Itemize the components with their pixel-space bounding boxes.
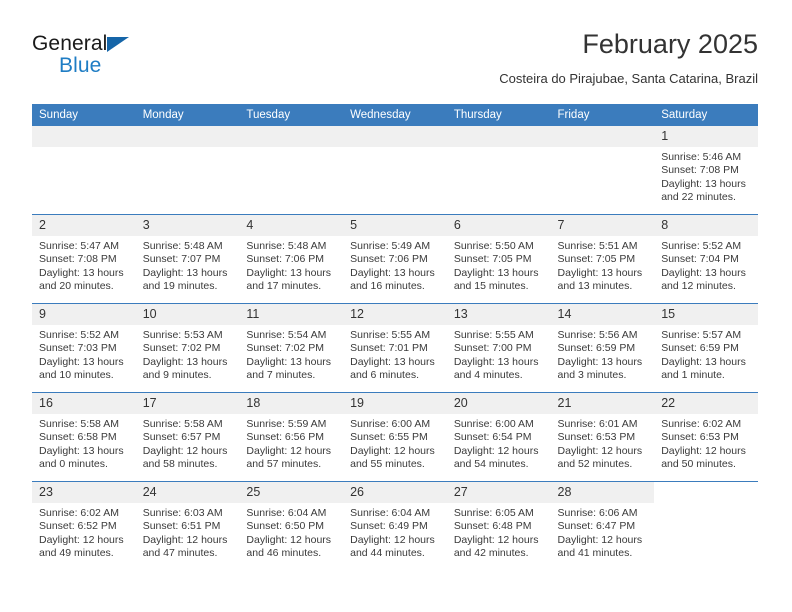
day-details: Sunrise: 5:58 AMSunset: 6:58 PMDaylight:… — [32, 414, 136, 472]
detail-daylight2: and 41 minutes. — [558, 547, 649, 560]
day-details: Sunrise: 6:00 AMSunset: 6:54 PMDaylight:… — [447, 414, 551, 472]
detail-sunset: Sunset: 6:59 PM — [661, 342, 752, 355]
logo-text-general: General — [32, 32, 107, 55]
detail-sunset: Sunset: 7:08 PM — [39, 253, 130, 266]
calendar-day-cell[interactable]: 26Sunrise: 6:04 AMSunset: 6:49 PMDayligh… — [343, 482, 447, 571]
detail-daylight1: Daylight: 13 hours — [39, 267, 130, 280]
weekday-header-thursday: Thursday — [447, 104, 551, 126]
day-details: Sunrise: 5:53 AMSunset: 7:02 PMDaylight:… — [136, 325, 240, 383]
detail-daylight2: and 7 minutes. — [246, 369, 337, 382]
weekday-header-wednesday: Wednesday — [343, 104, 447, 126]
day-details: Sunrise: 5:46 AMSunset: 7:08 PMDaylight:… — [654, 147, 758, 205]
detail-daylight2: and 13 minutes. — [558, 280, 649, 293]
detail-sunset: Sunset: 6:59 PM — [558, 342, 649, 355]
detail-daylight2: and 46 minutes. — [246, 547, 337, 560]
calendar-day-cell[interactable]: 20Sunrise: 6:00 AMSunset: 6:54 PMDayligh… — [447, 393, 551, 482]
day-details: Sunrise: 5:48 AMSunset: 7:06 PMDaylight:… — [239, 236, 343, 294]
detail-daylight2: and 20 minutes. — [39, 280, 130, 293]
day-details: Sunrise: 5:52 AMSunset: 7:03 PMDaylight:… — [32, 325, 136, 383]
day-number: 25 — [239, 482, 343, 503]
detail-daylight2: and 54 minutes. — [454, 458, 545, 471]
day-number: 14 — [551, 304, 655, 325]
logo-triangle-icon — [107, 37, 129, 52]
detail-daylight1: Daylight: 13 hours — [39, 445, 130, 458]
calendar-day-cell[interactable]: 22Sunrise: 6:02 AMSunset: 6:53 PMDayligh… — [654, 393, 758, 482]
calendar-day-cell[interactable]: 8Sunrise: 5:52 AMSunset: 7:04 PMDaylight… — [654, 215, 758, 304]
page-header: General Blue February 2025 Costeira do P… — [32, 28, 758, 98]
day-number: 20 — [447, 393, 551, 414]
detail-sunset: Sunset: 6:53 PM — [661, 431, 752, 444]
detail-daylight2: and 12 minutes. — [661, 280, 752, 293]
day-number: 21 — [551, 393, 655, 414]
day-details: Sunrise: 5:56 AMSunset: 6:59 PMDaylight:… — [551, 325, 655, 383]
detail-daylight2: and 22 minutes. — [661, 191, 752, 204]
detail-sunrise: Sunrise: 5:55 AM — [454, 329, 545, 342]
detail-sunrise: Sunrise: 6:04 AM — [246, 507, 337, 520]
calendar-week-row: 9Sunrise: 5:52 AMSunset: 7:03 PMDaylight… — [32, 304, 758, 393]
detail-daylight2: and 16 minutes. — [350, 280, 441, 293]
day-number: 11 — [239, 304, 343, 325]
day-number — [447, 126, 551, 147]
detail-sunrise: Sunrise: 6:01 AM — [558, 418, 649, 431]
day-number: 12 — [343, 304, 447, 325]
calendar-empty-cell — [239, 126, 343, 215]
detail-daylight1: Daylight: 12 hours — [454, 534, 545, 547]
calendar-empty-cell — [551, 126, 655, 215]
calendar-day-cell[interactable]: 9Sunrise: 5:52 AMSunset: 7:03 PMDaylight… — [32, 304, 136, 393]
detail-sunrise: Sunrise: 5:53 AM — [143, 329, 234, 342]
day-details: Sunrise: 5:54 AMSunset: 7:02 PMDaylight:… — [239, 325, 343, 383]
day-number: 7 — [551, 215, 655, 236]
detail-sunset: Sunset: 7:02 PM — [143, 342, 234, 355]
detail-daylight1: Daylight: 12 hours — [454, 445, 545, 458]
calendar-day-cell[interactable]: 18Sunrise: 5:59 AMSunset: 6:56 PMDayligh… — [239, 393, 343, 482]
day-number: 10 — [136, 304, 240, 325]
day-details: Sunrise: 6:06 AMSunset: 6:47 PMDaylight:… — [551, 503, 655, 561]
calendar-day-cell[interactable]: 17Sunrise: 5:58 AMSunset: 6:57 PMDayligh… — [136, 393, 240, 482]
day-number: 2 — [32, 215, 136, 236]
general-blue-logo[interactable]: General Blue — [32, 32, 242, 88]
detail-daylight2: and 52 minutes. — [558, 458, 649, 471]
calendar-day-cell[interactable]: 1Sunrise: 5:46 AMSunset: 7:08 PMDaylight… — [654, 126, 758, 215]
detail-sunrise: Sunrise: 6:02 AM — [661, 418, 752, 431]
detail-daylight2: and 15 minutes. — [454, 280, 545, 293]
detail-daylight2: and 17 minutes. — [246, 280, 337, 293]
day-details: Sunrise: 6:04 AMSunset: 6:50 PMDaylight:… — [239, 503, 343, 561]
detail-daylight2: and 49 minutes. — [39, 547, 130, 560]
calendar-day-cell[interactable]: 4Sunrise: 5:48 AMSunset: 7:06 PMDaylight… — [239, 215, 343, 304]
detail-sunset: Sunset: 7:03 PM — [39, 342, 130, 355]
day-number: 6 — [447, 215, 551, 236]
detail-daylight2: and 57 minutes. — [246, 458, 337, 471]
detail-sunrise: Sunrise: 5:47 AM — [39, 240, 130, 253]
detail-sunrise: Sunrise: 6:00 AM — [350, 418, 441, 431]
calendar-empty-cell — [654, 482, 758, 571]
detail-daylight1: Daylight: 13 hours — [246, 267, 337, 280]
detail-sunrise: Sunrise: 6:02 AM — [39, 507, 130, 520]
weekday-header-friday: Friday — [551, 104, 655, 126]
day-number: 23 — [32, 482, 136, 503]
day-number: 24 — [136, 482, 240, 503]
calendar-empty-cell — [136, 126, 240, 215]
detail-sunset: Sunset: 7:05 PM — [558, 253, 649, 266]
detail-sunrise: Sunrise: 5:52 AM — [661, 240, 752, 253]
detail-sunset: Sunset: 6:48 PM — [454, 520, 545, 533]
calendar-week-row: 2Sunrise: 5:47 AMSunset: 7:08 PMDaylight… — [32, 215, 758, 304]
calendar-day-cell[interactable]: 14Sunrise: 5:56 AMSunset: 6:59 PMDayligh… — [551, 304, 655, 393]
detail-sunrise: Sunrise: 5:56 AM — [558, 329, 649, 342]
detail-daylight1: Daylight: 12 hours — [350, 445, 441, 458]
detail-sunset: Sunset: 7:01 PM — [350, 342, 441, 355]
day-number: 18 — [239, 393, 343, 414]
detail-sunrise: Sunrise: 5:54 AM — [246, 329, 337, 342]
detail-daylight1: Daylight: 13 hours — [661, 178, 752, 191]
weekday-header-tuesday: Tuesday — [239, 104, 343, 126]
detail-daylight2: and 47 minutes. — [143, 547, 234, 560]
page-title: February 2025 — [499, 28, 758, 60]
logo-top-row: General — [32, 32, 242, 55]
day-number: 9 — [32, 304, 136, 325]
calendar-day-cell[interactable]: 12Sunrise: 5:55 AMSunset: 7:01 PMDayligh… — [343, 304, 447, 393]
detail-sunset: Sunset: 6:58 PM — [39, 431, 130, 444]
detail-sunrise: Sunrise: 5:46 AM — [661, 151, 752, 164]
detail-daylight2: and 55 minutes. — [350, 458, 441, 471]
detail-daylight1: Daylight: 12 hours — [350, 534, 441, 547]
calendar-header-row: Sunday Monday Tuesday Wednesday Thursday… — [32, 104, 758, 126]
detail-daylight2: and 44 minutes. — [350, 547, 441, 560]
detail-daylight1: Daylight: 13 hours — [143, 356, 234, 369]
calendar-day-cell[interactable]: 23Sunrise: 6:02 AMSunset: 6:52 PMDayligh… — [32, 482, 136, 571]
detail-sunrise: Sunrise: 5:48 AM — [246, 240, 337, 253]
calendar-day-cell[interactable]: 15Sunrise: 5:57 AMSunset: 6:59 PMDayligh… — [654, 304, 758, 393]
detail-sunrise: Sunrise: 6:04 AM — [350, 507, 441, 520]
detail-daylight2: and 6 minutes. — [350, 369, 441, 382]
day-details: Sunrise: 5:59 AMSunset: 6:56 PMDaylight:… — [239, 414, 343, 472]
detail-daylight1: Daylight: 13 hours — [661, 267, 752, 280]
calendar-day-cell[interactable]: 3Sunrise: 5:48 AMSunset: 7:07 PMDaylight… — [136, 215, 240, 304]
calendar-empty-cell — [447, 126, 551, 215]
calendar-day-cell[interactable]: 7Sunrise: 5:51 AMSunset: 7:05 PMDaylight… — [551, 215, 655, 304]
detail-daylight1: Daylight: 13 hours — [558, 267, 649, 280]
detail-sunset: Sunset: 6:50 PM — [246, 520, 337, 533]
day-number: 4 — [239, 215, 343, 236]
day-number: 16 — [32, 393, 136, 414]
detail-sunset: Sunset: 6:52 PM — [39, 520, 130, 533]
detail-daylight1: Daylight: 12 hours — [246, 445, 337, 458]
detail-sunrise: Sunrise: 5:49 AM — [350, 240, 441, 253]
detail-daylight1: Daylight: 12 hours — [558, 534, 649, 547]
title-block: February 2025 Costeira do Pirajubae, San… — [499, 28, 758, 88]
detail-sunrise: Sunrise: 5:48 AM — [143, 240, 234, 253]
day-details: Sunrise: 5:49 AMSunset: 7:06 PMDaylight:… — [343, 236, 447, 294]
calendar-day-cell[interactable]: 2Sunrise: 5:47 AMSunset: 7:08 PMDaylight… — [32, 215, 136, 304]
day-number — [136, 126, 240, 147]
detail-sunset: Sunset: 6:51 PM — [143, 520, 234, 533]
day-number: 22 — [654, 393, 758, 414]
day-details: Sunrise: 5:47 AMSunset: 7:08 PMDaylight:… — [32, 236, 136, 294]
day-number: 28 — [551, 482, 655, 503]
detail-sunrise: Sunrise: 5:58 AM — [39, 418, 130, 431]
detail-sunrise: Sunrise: 6:03 AM — [143, 507, 234, 520]
detail-sunset: Sunset: 7:06 PM — [246, 253, 337, 266]
day-number — [343, 126, 447, 147]
detail-daylight1: Daylight: 13 hours — [143, 267, 234, 280]
detail-sunset: Sunset: 6:49 PM — [350, 520, 441, 533]
calendar-week-row: 1Sunrise: 5:46 AMSunset: 7:08 PMDaylight… — [32, 126, 758, 215]
detail-sunrise: Sunrise: 5:59 AM — [246, 418, 337, 431]
calendar-day-cell[interactable]: 6Sunrise: 5:50 AMSunset: 7:05 PMDaylight… — [447, 215, 551, 304]
detail-sunrise: Sunrise: 5:55 AM — [350, 329, 441, 342]
day-details: Sunrise: 5:58 AMSunset: 6:57 PMDaylight:… — [136, 414, 240, 472]
logo-text-blue: Blue — [59, 55, 242, 77]
detail-daylight2: and 58 minutes. — [143, 458, 234, 471]
day-details: Sunrise: 6:00 AMSunset: 6:55 PMDaylight:… — [343, 414, 447, 472]
day-number: 27 — [447, 482, 551, 503]
day-number — [239, 126, 343, 147]
calendar-day-cell[interactable]: 16Sunrise: 5:58 AMSunset: 6:58 PMDayligh… — [32, 393, 136, 482]
detail-daylight1: Daylight: 13 hours — [350, 267, 441, 280]
detail-sunset: Sunset: 6:53 PM — [558, 431, 649, 444]
day-details: Sunrise: 6:02 AMSunset: 6:53 PMDaylight:… — [654, 414, 758, 472]
detail-sunset: Sunset: 6:54 PM — [454, 431, 545, 444]
detail-sunset: Sunset: 6:55 PM — [350, 431, 441, 444]
detail-sunset: Sunset: 6:47 PM — [558, 520, 649, 533]
detail-daylight2: and 3 minutes. — [558, 369, 649, 382]
detail-daylight2: and 19 minutes. — [143, 280, 234, 293]
detail-daylight2: and 50 minutes. — [661, 458, 752, 471]
weekday-header-monday: Monday — [136, 104, 240, 126]
detail-sunrise: Sunrise: 6:00 AM — [454, 418, 545, 431]
weekday-header-row: Sunday Monday Tuesday Wednesday Thursday… — [32, 104, 758, 126]
day-number: 15 — [654, 304, 758, 325]
detail-daylight1: Daylight: 12 hours — [143, 534, 234, 547]
calendar-empty-cell — [343, 126, 447, 215]
calendar-day-cell[interactable]: 5Sunrise: 5:49 AMSunset: 7:06 PMDaylight… — [343, 215, 447, 304]
calendar-day-cell[interactable]: 11Sunrise: 5:54 AMSunset: 7:02 PMDayligh… — [239, 304, 343, 393]
detail-sunset: Sunset: 7:07 PM — [143, 253, 234, 266]
detail-daylight2: and 42 minutes. — [454, 547, 545, 560]
day-details: Sunrise: 6:01 AMSunset: 6:53 PMDaylight:… — [551, 414, 655, 472]
sunrise-sunset-calendar: Sunday Monday Tuesday Wednesday Thursday… — [32, 104, 758, 570]
detail-daylight1: Daylight: 13 hours — [661, 356, 752, 369]
weekday-header-saturday: Saturday — [654, 104, 758, 126]
detail-daylight2: and 1 minute. — [661, 369, 752, 382]
detail-sunrise: Sunrise: 5:57 AM — [661, 329, 752, 342]
day-number: 3 — [136, 215, 240, 236]
detail-daylight2: and 9 minutes. — [143, 369, 234, 382]
day-number: 26 — [343, 482, 447, 503]
detail-sunset: Sunset: 7:00 PM — [454, 342, 545, 355]
day-details: Sunrise: 5:55 AMSunset: 7:00 PMDaylight:… — [447, 325, 551, 383]
day-details: Sunrise: 5:55 AMSunset: 7:01 PMDaylight:… — [343, 325, 447, 383]
day-details: Sunrise: 5:52 AMSunset: 7:04 PMDaylight:… — [654, 236, 758, 294]
detail-sunrise: Sunrise: 5:50 AM — [454, 240, 545, 253]
day-details: Sunrise: 5:50 AMSunset: 7:05 PMDaylight:… — [447, 236, 551, 294]
detail-sunset: Sunset: 7:05 PM — [454, 253, 545, 266]
calendar-body: 1Sunrise: 5:46 AMSunset: 7:08 PMDaylight… — [32, 126, 758, 570]
day-number: 17 — [136, 393, 240, 414]
detail-daylight1: Daylight: 12 hours — [143, 445, 234, 458]
detail-sunset: Sunset: 7:06 PM — [350, 253, 441, 266]
day-details: Sunrise: 6:03 AMSunset: 6:51 PMDaylight:… — [136, 503, 240, 561]
detail-daylight1: Daylight: 12 hours — [246, 534, 337, 547]
page-subtitle: Costeira do Pirajubae, Santa Catarina, B… — [499, 70, 758, 88]
detail-daylight1: Daylight: 13 hours — [454, 267, 545, 280]
detail-daylight2: and 4 minutes. — [454, 369, 545, 382]
day-details: Sunrise: 6:02 AMSunset: 6:52 PMDaylight:… — [32, 503, 136, 561]
calendar-week-row: 23Sunrise: 6:02 AMSunset: 6:52 PMDayligh… — [32, 482, 758, 571]
detail-daylight1: Daylight: 13 hours — [246, 356, 337, 369]
day-number — [32, 126, 136, 147]
day-details: Sunrise: 6:05 AMSunset: 6:48 PMDaylight:… — [447, 503, 551, 561]
detail-daylight1: Daylight: 12 hours — [661, 445, 752, 458]
calendar-empty-cell — [32, 126, 136, 215]
detail-sunset: Sunset: 6:57 PM — [143, 431, 234, 444]
calendar-day-cell[interactable]: 13Sunrise: 5:55 AMSunset: 7:00 PMDayligh… — [447, 304, 551, 393]
detail-daylight2: and 10 minutes. — [39, 369, 130, 382]
calendar-page: General Blue February 2025 Costeira do P… — [0, 0, 792, 612]
day-number: 13 — [447, 304, 551, 325]
calendar-week-row: 16Sunrise: 5:58 AMSunset: 6:58 PMDayligh… — [32, 393, 758, 482]
detail-daylight1: Daylight: 12 hours — [39, 534, 130, 547]
detail-sunrise: Sunrise: 6:05 AM — [454, 507, 545, 520]
calendar-day-cell[interactable]: 28Sunrise: 6:06 AMSunset: 6:47 PMDayligh… — [551, 482, 655, 571]
weekday-header-sunday: Sunday — [32, 104, 136, 126]
day-details: Sunrise: 6:04 AMSunset: 6:49 PMDaylight:… — [343, 503, 447, 561]
detail-sunrise: Sunrise: 6:06 AM — [558, 507, 649, 520]
detail-sunrise: Sunrise: 5:51 AM — [558, 240, 649, 253]
day-details: Sunrise: 5:51 AMSunset: 7:05 PMDaylight:… — [551, 236, 655, 294]
detail-daylight1: Daylight: 13 hours — [350, 356, 441, 369]
detail-daylight1: Daylight: 13 hours — [558, 356, 649, 369]
day-number: 8 — [654, 215, 758, 236]
calendar-day-cell[interactable]: 21Sunrise: 6:01 AMSunset: 6:53 PMDayligh… — [551, 393, 655, 482]
day-details: Sunrise: 5:57 AMSunset: 6:59 PMDaylight:… — [654, 325, 758, 383]
day-details: Sunrise: 5:48 AMSunset: 7:07 PMDaylight:… — [136, 236, 240, 294]
detail-sunset: Sunset: 7:08 PM — [661, 164, 752, 177]
calendar-day-cell[interactable]: 24Sunrise: 6:03 AMSunset: 6:51 PMDayligh… — [136, 482, 240, 571]
detail-daylight1: Daylight: 13 hours — [454, 356, 545, 369]
detail-sunrise: Sunrise: 5:52 AM — [39, 329, 130, 342]
day-number: 1 — [654, 126, 758, 147]
calendar-day-cell[interactable]: 10Sunrise: 5:53 AMSunset: 7:02 PMDayligh… — [136, 304, 240, 393]
detail-sunrise: Sunrise: 5:58 AM — [143, 418, 234, 431]
calendar-day-cell[interactable]: 25Sunrise: 6:04 AMSunset: 6:50 PMDayligh… — [239, 482, 343, 571]
detail-sunset: Sunset: 7:04 PM — [661, 253, 752, 266]
detail-daylight1: Daylight: 13 hours — [39, 356, 130, 369]
detail-sunset: Sunset: 7:02 PM — [246, 342, 337, 355]
detail-daylight1: Daylight: 12 hours — [558, 445, 649, 458]
calendar-day-cell[interactable]: 19Sunrise: 6:00 AMSunset: 6:55 PMDayligh… — [343, 393, 447, 482]
calendar-day-cell[interactable]: 27Sunrise: 6:05 AMSunset: 6:48 PMDayligh… — [447, 482, 551, 571]
detail-sunset: Sunset: 6:56 PM — [246, 431, 337, 444]
day-number: 5 — [343, 215, 447, 236]
detail-daylight2: and 0 minutes. — [39, 458, 130, 471]
day-number: 19 — [343, 393, 447, 414]
day-number — [551, 126, 655, 147]
